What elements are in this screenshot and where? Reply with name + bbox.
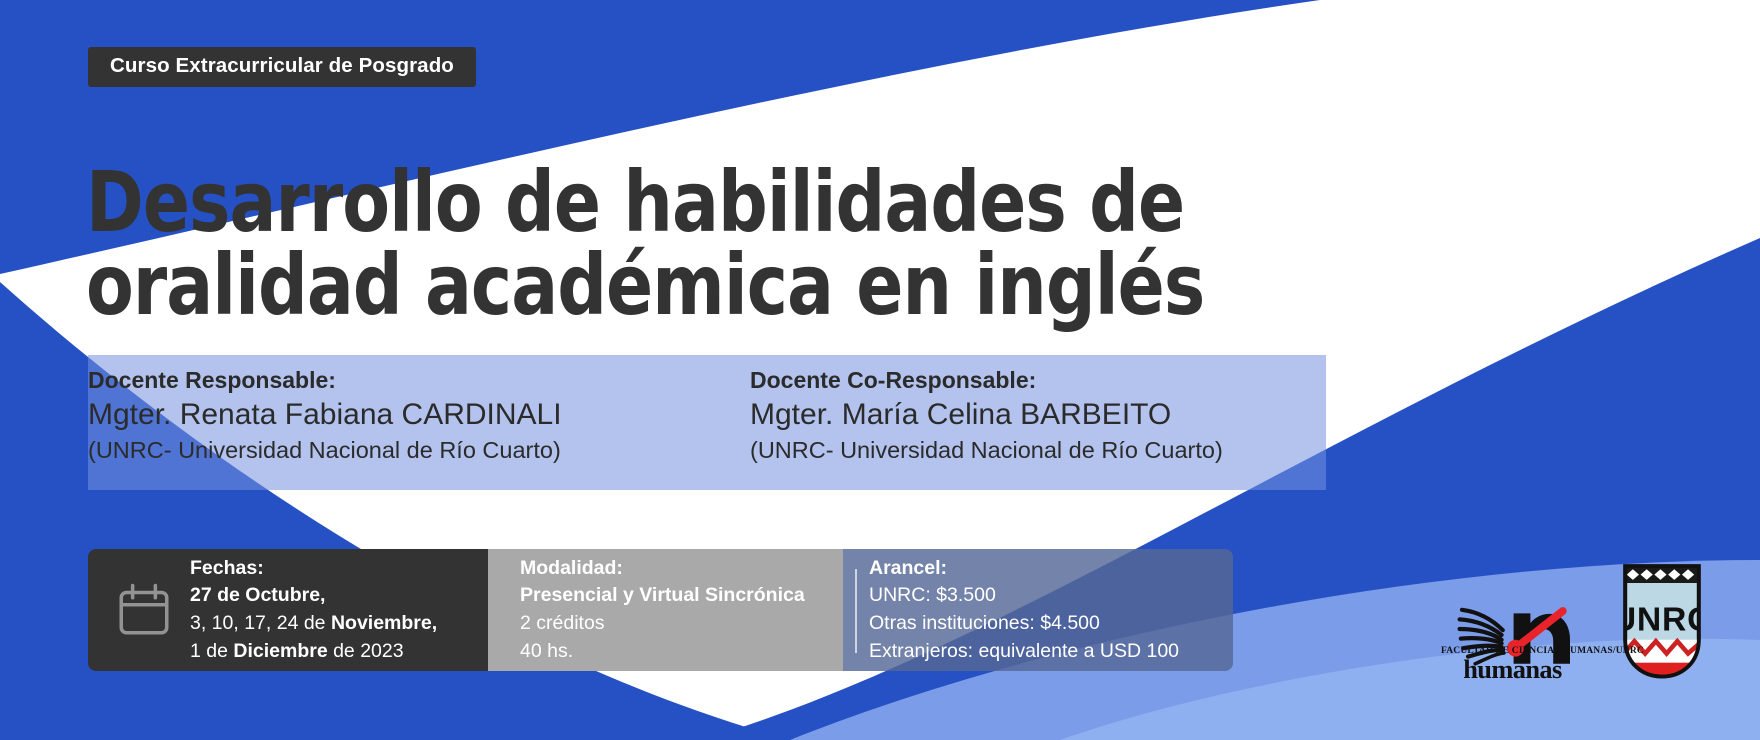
dates-text: Fechas: 27 de Octubre, 3, 10, 17, 24 de … bbox=[184, 555, 437, 666]
info-segment-dates: Fechas: 27 de Octubre, 3, 10, 17, 24 de … bbox=[88, 549, 488, 671]
dates-line-2-days: 3, 10, 17, 24 de bbox=[190, 612, 331, 634]
modality-heading: Modalidad: bbox=[520, 555, 805, 583]
unrc-shield-logo: UNRC bbox=[1616, 560, 1708, 683]
logo-group: humanas UNRC bbox=[1456, 560, 1708, 683]
fee-unrc: UNRC: $3.500 bbox=[869, 582, 1179, 610]
dates-line-2: 3, 10, 17, 24 de Noviembre, bbox=[190, 610, 437, 638]
modality-hours: 40 hs. bbox=[520, 638, 805, 666]
title-line-1: Desarrollo de habilidades de bbox=[86, 161, 1204, 243]
fee-text: Arancel: UNRC: $3.500 Otras institucione… bbox=[843, 555, 1179, 666]
fee-heading: Arancel: bbox=[869, 555, 1179, 583]
teacher-primary-surname: CARDINALI bbox=[402, 398, 562, 431]
course-type-badge: Curso Extracurricular de Posgrado bbox=[88, 47, 476, 87]
teacher-secondary-given: Mgter. María Celina bbox=[750, 398, 1020, 431]
dates-line-3: 1 de Diciembre de 2023 bbox=[190, 638, 437, 666]
teacher-primary: Docente Responsable: Mgter. Renata Fabia… bbox=[88, 365, 562, 465]
fee-divider-rule bbox=[855, 569, 857, 653]
fee-foreigners: Extranjeros: equivalente a USD 100 bbox=[869, 638, 1179, 666]
dates-line-1: 27 de Octubre, bbox=[190, 582, 437, 610]
dates-heading: Fechas: bbox=[190, 555, 437, 583]
teacher-secondary-role: Docente Co-Responsable: bbox=[750, 365, 1223, 395]
teacher-secondary-institution: (UNRC- Universidad Nacional de Río Cuart… bbox=[750, 435, 1223, 465]
course-info-bar: Fechas: 27 de Octubre, 3, 10, 17, 24 de … bbox=[88, 549, 1233, 671]
fee-other-institutions: Otras instituciones: $4.500 bbox=[869, 610, 1179, 638]
page-title: Desarrollo de habilidades de oralidad ac… bbox=[86, 161, 1204, 326]
course-promo-banner: Curso Extracurricular de Posgrado Desarr… bbox=[0, 0, 1760, 740]
calendar-icon bbox=[116, 582, 172, 638]
humanas-logo: humanas bbox=[1456, 593, 1588, 683]
modality-line-1: Presencial y Virtual Sincrónica bbox=[520, 582, 805, 610]
teacher-secondary-surname: BARBEITO bbox=[1020, 398, 1171, 431]
wave-left-bottom bbox=[0, 282, 790, 740]
humanas-wordmark: humanas bbox=[1463, 654, 1562, 683]
info-segment-fee: Arancel: UNRC: $3.500 Otras institucione… bbox=[843, 549, 1233, 671]
dates-line-3-month: Diciembre bbox=[233, 640, 327, 662]
teacher-primary-role: Docente Responsable: bbox=[88, 365, 562, 395]
dates-line-2-month: Noviembre, bbox=[331, 612, 437, 634]
dates-line-3-day: 1 de bbox=[190, 640, 233, 662]
info-segment-modality: Modalidad: Presencial y Virtual Sincróni… bbox=[488, 549, 843, 671]
humanas-sub-caption: FACULTAD DE CIENCIAS HUMANAS/UNRC bbox=[1441, 646, 1644, 656]
teacher-secondary: Docente Co-Responsable: Mgter. María Cel… bbox=[750, 365, 1223, 465]
dates-line-3-year: de 2023 bbox=[328, 640, 404, 662]
teacher-secondary-name: Mgter. María Celina BARBEITO bbox=[750, 397, 1223, 433]
teacher-primary-given: Mgter. Renata Fabiana bbox=[88, 398, 402, 431]
modality-credits: 2 créditos bbox=[520, 610, 805, 638]
teacher-primary-name: Mgter. Renata Fabiana CARDINALI bbox=[88, 397, 562, 433]
modality-text: Modalidad: Presencial y Virtual Sincróni… bbox=[488, 555, 805, 666]
shield-unrc-text: UNRC bbox=[1616, 601, 1708, 639]
teacher-primary-institution: (UNRC- Universidad Nacional de Río Cuart… bbox=[88, 435, 562, 465]
title-line-2: oralidad académica en inglés bbox=[86, 244, 1204, 326]
